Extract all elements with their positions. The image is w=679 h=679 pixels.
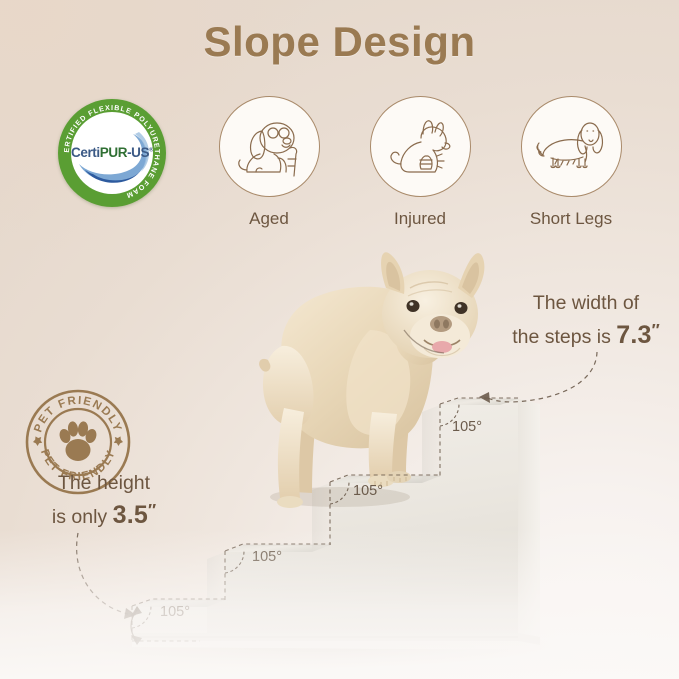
badge-brand-suffix: -US: [127, 145, 149, 160]
badge-brand-prefix: Certi: [71, 145, 100, 160]
stamp-star-right: [114, 436, 123, 446]
height-annotation: The height is only 3.5″: [14, 470, 194, 533]
badge-brand-text: CertiPUR-US®: [71, 145, 153, 160]
feature-label-short-legs: Short Legs: [530, 209, 612, 229]
height-annotation-prefix: is only: [52, 506, 113, 528]
certipur-us-badge: CONTAINS CERTIFIED FLEXIBLE POLYURETHANE…: [58, 99, 166, 207]
width-annotation-value: 7.3: [616, 321, 651, 349]
badge-trademark: ®: [149, 148, 153, 154]
stamp-star-left: [33, 436, 42, 446]
feature-injured[interactable]: Injured: [356, 96, 484, 229]
width-annotation: The width of the steps is 7.3″: [500, 290, 672, 353]
height-annotation-unit: ″: [148, 500, 156, 519]
height-annotation-value: 3.5: [113, 501, 148, 529]
height-annotation-line1: The height: [14, 470, 194, 498]
width-annotation-line2: the steps is 7.3″: [500, 318, 672, 354]
paw-print-icon: [58, 421, 98, 461]
dog-with-cane-icon: [219, 96, 320, 197]
feature-label-aged: Aged: [249, 209, 289, 229]
product-infographic: 105° 105° 105° 105° Slope Design CONTAIN…: [0, 0, 679, 679]
height-annotation-line2: is only 3.5″: [14, 498, 194, 534]
width-annotation-unit: ″: [652, 320, 660, 339]
width-annotation-line1: The width of: [500, 290, 672, 318]
width-annotation-prefix: the steps is: [512, 326, 616, 348]
dog-with-bandaged-paw-icon: [370, 96, 471, 197]
feature-aged[interactable]: Aged: [205, 96, 333, 229]
feature-icon-row: Aged: [205, 96, 635, 236]
badge-brand-mid: PUR: [100, 145, 127, 160]
feature-short-legs[interactable]: Short Legs: [507, 96, 635, 229]
floor-fade: [0, 529, 679, 679]
feature-label-injured: Injured: [394, 209, 446, 229]
page-title: Slope Design: [0, 18, 679, 66]
dachshund-icon: [521, 96, 622, 197]
